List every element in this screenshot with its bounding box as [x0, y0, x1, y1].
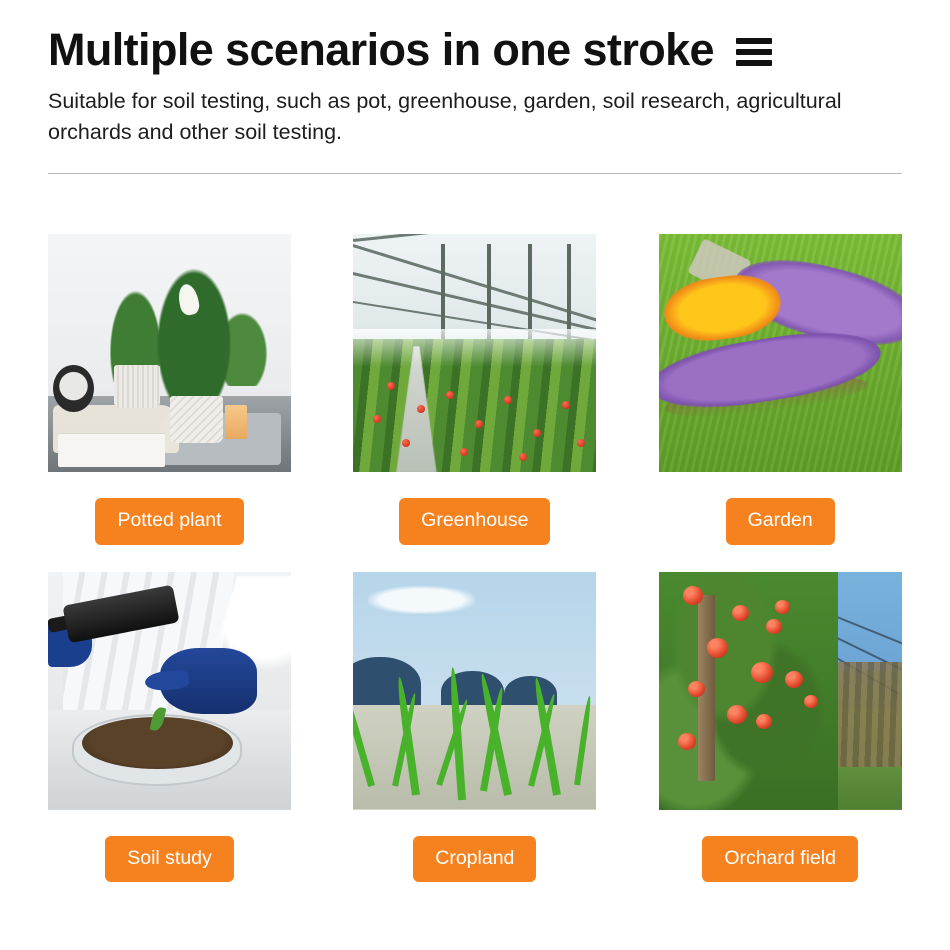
cropland-photo — [353, 572, 596, 810]
scenario-card-potted-plant[interactable]: Potted plant — [48, 234, 291, 545]
potted-plant-photo — [48, 234, 291, 472]
page-title: Multiple scenarios in one stroke — [48, 26, 714, 73]
orchard-field-photo — [659, 572, 902, 810]
page-subtitle: Suitable for soil testing, such as pot, … — [48, 86, 868, 147]
scenario-card-soil-study[interactable]: Soil study — [48, 572, 291, 883]
hamburger-bar-1 — [736, 38, 772, 44]
scenario-label-garden[interactable]: Garden — [726, 498, 835, 545]
header-divider — [48, 173, 902, 174]
scenario-card-greenhouse[interactable]: Greenhouse — [353, 234, 596, 545]
scenario-card-garden[interactable]: Garden — [659, 234, 902, 545]
garden-photo — [659, 234, 902, 472]
scenario-card-orchard-field[interactable]: Orchard field — [659, 572, 902, 883]
hamburger-bar-2 — [736, 49, 772, 55]
scenario-label-potted-plant[interactable]: Potted plant — [95, 498, 243, 545]
scenario-label-greenhouse[interactable]: Greenhouse — [399, 498, 550, 545]
scenario-label-orchard-field[interactable]: Orchard field — [702, 836, 858, 883]
hamburger-bar-3 — [736, 60, 772, 66]
scenario-grid: Potted plant — [48, 234, 902, 882]
greenhouse-photo — [353, 234, 596, 472]
title-row: Multiple scenarios in one stroke — [48, 26, 902, 73]
hamburger-icon[interactable] — [736, 34, 772, 66]
soil-study-photo — [48, 572, 291, 810]
scenario-card-cropland[interactable]: Cropland — [353, 572, 596, 883]
page-header: Multiple scenarios in one stroke Suitabl… — [48, 26, 902, 147]
scenario-showcase-page: Multiple scenarios in one stroke Suitabl… — [0, 0, 950, 950]
scenario-label-soil-study[interactable]: Soil study — [105, 836, 234, 883]
scenario-label-cropland[interactable]: Cropland — [413, 836, 536, 883]
